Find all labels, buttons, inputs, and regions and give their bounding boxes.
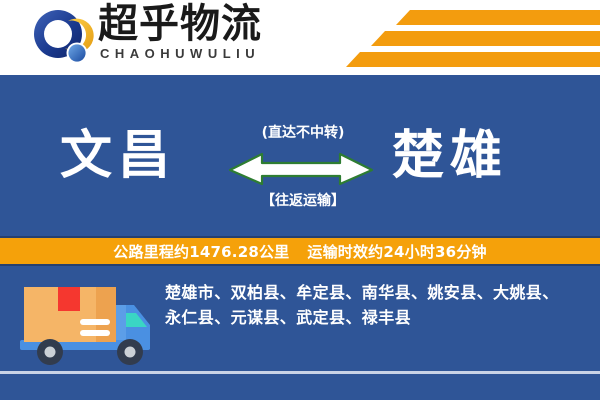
delivery-truck-icon <box>14 277 162 372</box>
route-info-bar: 公路里程约1476.28公里 运输时效约24小时36分钟 <box>0 236 600 266</box>
stripe-3 <box>346 52 600 67</box>
banner-header: 超乎物流 CHAOHUWULIU <box>0 0 600 75</box>
brand-name-en: CHAOHUWULIU <box>100 46 260 61</box>
direct-route-note: (直达不中转) <box>248 122 358 142</box>
distance-text: 公路里程约1476.28公里 <box>113 241 289 262</box>
round-trip-note: 【往返运输】 <box>243 190 363 210</box>
stripe-2 <box>371 31 600 46</box>
duration-text: 运输时效约24小时36分钟 <box>307 241 486 262</box>
bidirectional-arrow-icon <box>228 146 374 186</box>
origin-city: 文昌 <box>60 126 176 186</box>
logistics-route-banner: 超乎物流 CHAOHUWULIU 文昌 楚雄 (直达不中转) 【往返运输】 公路… <box>0 0 600 400</box>
destination-city: 楚雄 <box>392 126 508 186</box>
coverage-line-2: 永仁县、元谋县、武定县、禄丰县 <box>165 305 590 330</box>
coverage-area-list: 楚雄市、双柏县、牟定县、南华县、姚安县、大姚县、 永仁县、元谋县、武定县、禄丰县 <box>165 280 590 330</box>
circular-q-logo-icon <box>32 8 94 68</box>
header-stripes-decoration <box>340 0 600 75</box>
brand-name-cn: 超乎物流 <box>98 2 262 46</box>
coverage-line-1: 楚雄市、双柏县、牟定县、南华县、姚安县、大姚县、 <box>165 280 590 305</box>
stripe-1 <box>396 10 600 25</box>
